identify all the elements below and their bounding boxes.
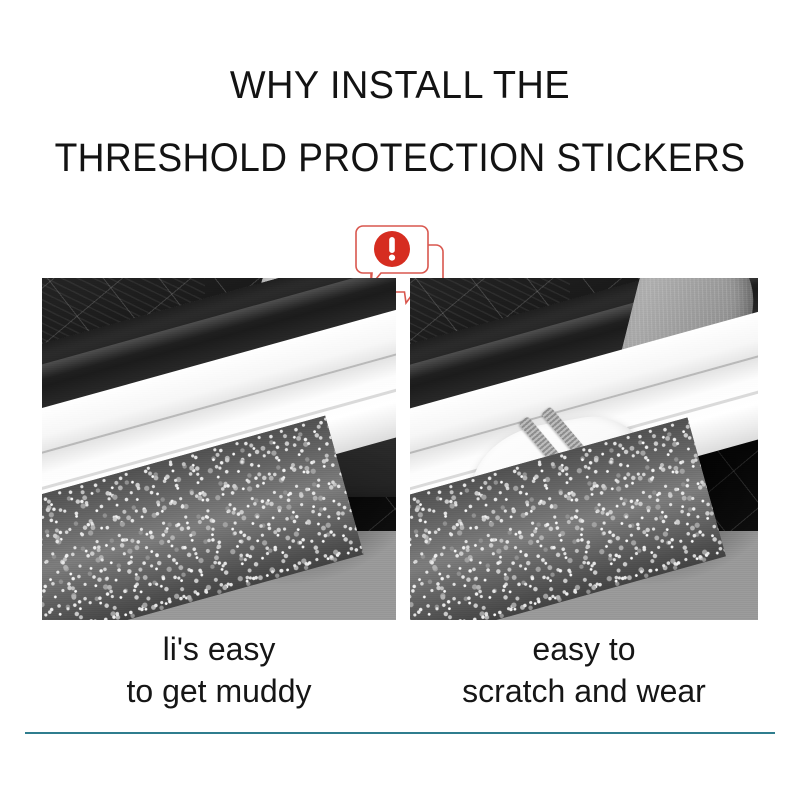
caption-scratch-line-1: easy to: [410, 628, 758, 670]
photo-shoe-on-sill: [410, 278, 758, 620]
photo-muddy-sill: [42, 278, 396, 620]
page-title: WHY INSTALL THE THRESHOLD PROTECTION STI…: [0, 50, 800, 194]
caption-muddy: li's easy to get muddy: [42, 628, 396, 712]
title-line-1: WHY INSTALL THE: [12, 50, 788, 122]
comparison-photos: [42, 278, 758, 620]
photo-captions: li's easy to get muddy easy to scratch a…: [42, 628, 758, 724]
caption-muddy-line-2: to get muddy: [42, 670, 396, 712]
caption-scratch: easy to scratch and wear: [410, 628, 758, 712]
title-line-2: THRESHOLD PROTECTION STICKERS: [28, 122, 772, 194]
bottom-divider: [25, 732, 775, 734]
infographic-page: WHY INSTALL THE THRESHOLD PROTECTION STI…: [0, 0, 800, 800]
caption-muddy-line-1: li's easy: [42, 628, 396, 670]
exclamation-circle-icon: [374, 231, 410, 267]
caption-scratch-line-2: scratch and wear: [410, 670, 758, 712]
